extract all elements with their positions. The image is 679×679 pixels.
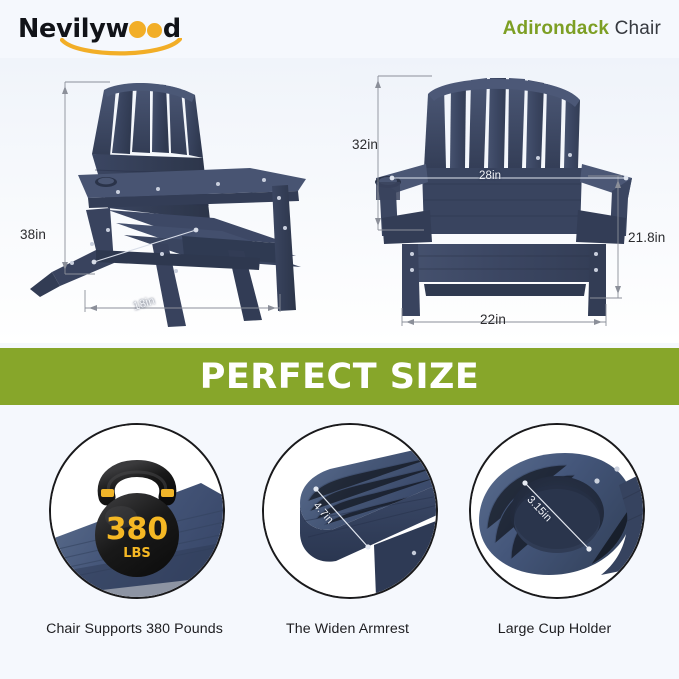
dimension-label-height-38in: 38in [20,227,46,242]
brand-logo-dot2-icon [147,23,162,38]
feature-widen-armrest: 4.7in The Widen Armrest [245,423,450,673]
chair-front-illustration [340,58,679,343]
feature-caption: Large Cup Holder [452,621,657,637]
perfect-size-banner: PERFECT SIZE [0,348,679,405]
product-type-label: Adirondack [503,18,610,39]
feature-image-circle [469,423,645,599]
brand-smile-swoosh-icon [60,38,182,58]
feature-image-circle: 380 LBS [49,423,225,599]
feature-weight-capacity: 380 LBS Chair Supports 380 Pounds [32,423,237,673]
product-infographic: Nevilywd Adirondack Chair [0,0,679,679]
dimension-label-arm-width-28in: 28in [479,170,501,182]
brand-logo: Nevilywd [18,14,228,56]
chair-side-illustration [0,58,340,343]
page-title: Adirondack Chair [503,18,661,40]
diagram-side-view: 38in 30.7in 18in [0,58,340,343]
feature-highlights: 380 LBS Chair Supports 380 Pounds [0,405,679,679]
feature-image-circle [262,423,438,599]
svg-text:380: 380 [106,512,169,547]
feature-caption: Chair Supports 380 Pounds [20,621,249,637]
dimension-label-back-height-32in: 32in [352,137,378,152]
dimension-diagrams: 38in 30.7in 18in [0,58,679,343]
header: Nevilywd Adirondack Chair [0,0,679,58]
dimension-label-side-height-21in: 21.8in [628,230,665,245]
brand-logo-dot-icon [129,21,146,38]
diagram-front-view: 32in 28in 21.8in 22in [340,58,679,343]
dimension-label-base-width-22in: 22in [480,312,506,327]
svg-text:LBS: LBS [123,546,151,561]
feature-cup-holder: 3.15in Large Cup Holder [452,423,657,673]
banner-title: PERFECT SIZE [200,357,480,397]
product-category-label: Chair [615,18,661,39]
feature-caption: The Widen Armrest [245,621,450,637]
